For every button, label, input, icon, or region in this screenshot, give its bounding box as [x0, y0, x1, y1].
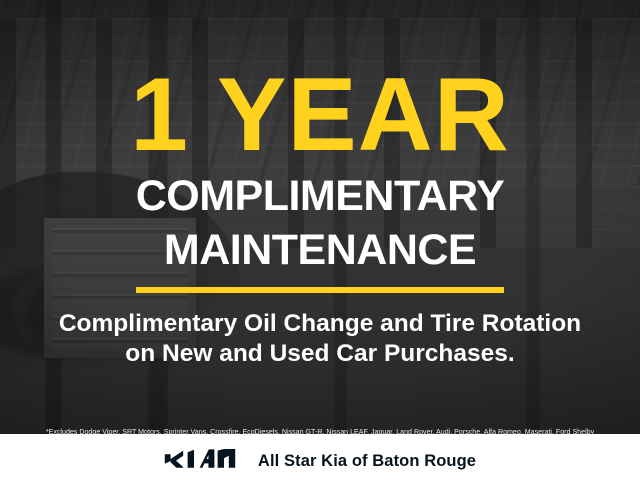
subheading: Complimentary Oil Change and Tire Rotati…: [59, 309, 581, 369]
subheading-line-2: on New and Used Car Purchases.: [59, 339, 581, 369]
kia-logo-icon: [164, 449, 236, 474]
headline-year: 1 YEAR: [130, 68, 510, 164]
subheading-line-1: Complimentary Oil Change and Tire Rotati…: [59, 309, 581, 339]
footer-bar: All Star Kia of Baton Rouge: [0, 434, 640, 488]
promotional-banner: 1 YEAR COMPLIMENTARY MAINTENANCE Complim…: [0, 0, 640, 488]
banner-content: 1 YEAR COMPLIMENTARY MAINTENANCE Complim…: [0, 0, 640, 434]
yellow-divider-rule: [136, 287, 504, 293]
headline-maintenance: MAINTENANCE: [164, 228, 476, 273]
headline-complimentary: COMPLIMENTARY: [136, 174, 505, 219]
dealer-name: All Star Kia of Baton Rouge: [258, 452, 476, 471]
